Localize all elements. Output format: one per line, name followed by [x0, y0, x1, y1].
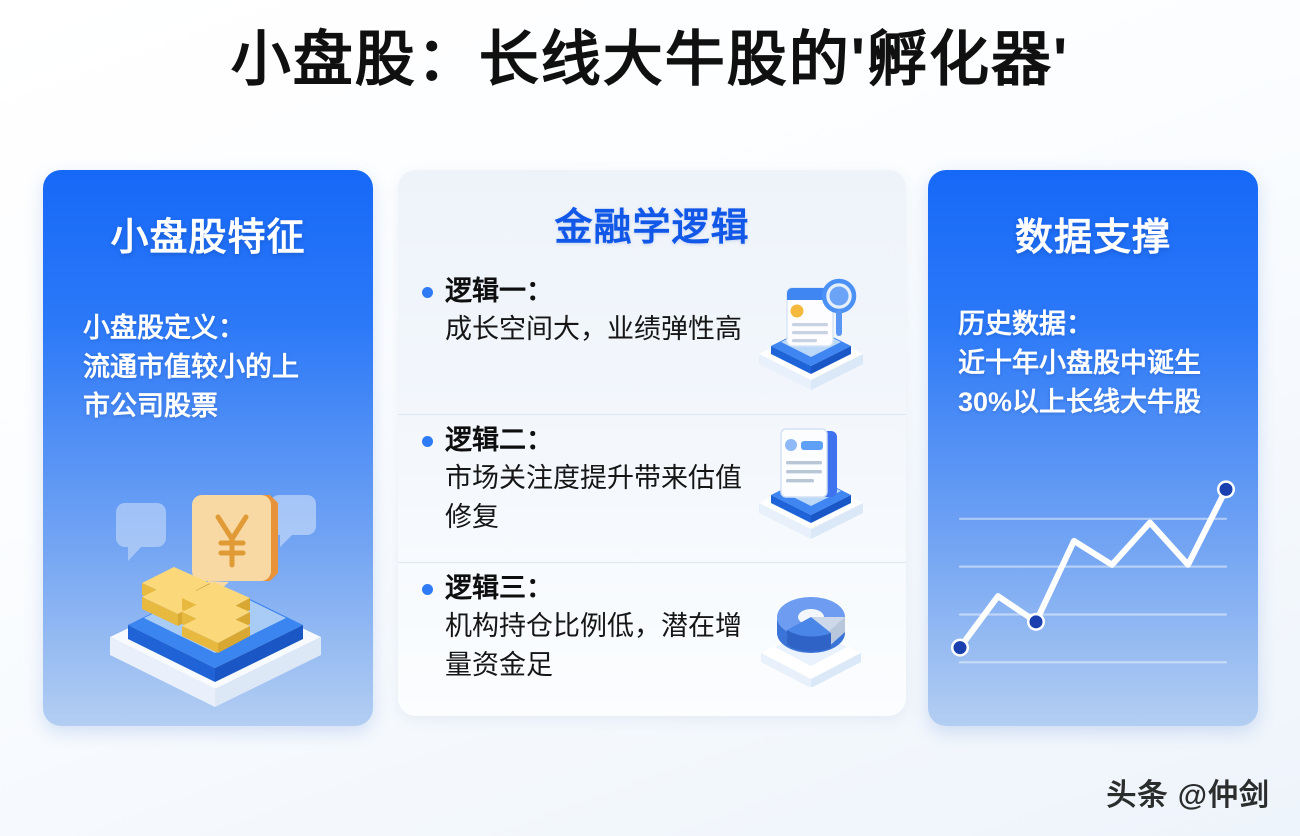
logic-item-2-desc: 市场关注度提升带来估值修复 — [445, 459, 745, 536]
logic-item-1-label: 逻辑一： — [445, 272, 745, 310]
stacked-documents-icon — [751, 419, 871, 539]
logic-item-1: 逻辑一： 成长空间大，业绩弹性高 — [398, 266, 906, 414]
card-right-body-line2: 30%以上长线大牛股 — [958, 383, 1258, 422]
logic-item-3: 逻辑三： 机构持仓比例低，潜在增量资金足 — [398, 562, 906, 710]
bullet-icon — [422, 287, 433, 298]
logic-item-3-text: 逻辑三： 机构持仓比例低，潜在增量资金足 — [445, 563, 745, 684]
logic-item-2-text: 逻辑二： 市场关注度提升带来估值修复 — [445, 415, 745, 536]
upward-trend-line-chart — [950, 466, 1236, 680]
logic-item-3-desc: 机构持仓比例低，潜在增量资金足 — [445, 607, 745, 684]
card-financial-logic: 金融学逻辑 逻辑一： 成长空间大，业绩弹性高 — [398, 170, 906, 716]
card-left-body-label: 小盘股定义： — [83, 309, 373, 348]
card-left-body-line2: 市公司股票 — [83, 387, 373, 426]
chart-markers — [951, 480, 1235, 656]
card-middle-title: 金融学逻辑 — [398, 196, 906, 251]
donut-chart-icon — [751, 567, 871, 687]
bullet-icon — [422, 584, 433, 595]
logic-item-2-label: 逻辑二： — [445, 421, 745, 459]
card-left-title: 小盘股特征 — [43, 206, 373, 261]
card-left-body-line1: 流通市值较小的上 — [83, 348, 373, 387]
chart-data-point — [954, 641, 967, 654]
cards-container: 小盘股特征 小盘股定义： 流通市值较小的上 市公司股票 — [0, 0, 1300, 836]
chart-data-point — [1220, 483, 1233, 496]
card-small-cap-features: 小盘股特征 小盘股定义： 流通市值较小的上 市公司股票 — [43, 170, 373, 726]
document-magnifier-icon — [751, 270, 871, 390]
bullet-icon — [422, 436, 433, 447]
logic-item-1-text: 逻辑一： 成长空间大，业绩弹性高 — [445, 266, 745, 349]
chart-gridlines — [960, 519, 1226, 663]
chart-data-point — [1030, 615, 1043, 628]
watermark: 头条 @仲剑 — [1106, 770, 1270, 814]
card-data-support: 数据支撑 历史数据： 近十年小盘股中诞生 30%以上长线大牛股 — [928, 170, 1258, 726]
logic-list: 逻辑一： 成长空间大，业绩弹性高 — [398, 266, 906, 710]
card-right-body-line1: 近十年小盘股中诞生 — [958, 344, 1258, 383]
card-right-body: 历史数据： 近十年小盘股中诞生 30%以上长线大牛股 — [958, 305, 1258, 422]
logic-item-3-label: 逻辑三： — [445, 569, 745, 607]
card-right-title: 数据支撑 — [928, 206, 1258, 261]
chart-line — [960, 489, 1226, 647]
money-chat-platform-illustration — [98, 477, 333, 712]
logic-item-2: 逻辑二： 市场关注度提升带来估值修复 — [398, 414, 906, 562]
card-left-body: 小盘股定义： 流通市值较小的上 市公司股票 — [83, 309, 373, 426]
logic-item-1-desc: 成长空间大，业绩弹性高 — [445, 310, 745, 348]
card-right-body-label: 历史数据： — [958, 305, 1258, 344]
